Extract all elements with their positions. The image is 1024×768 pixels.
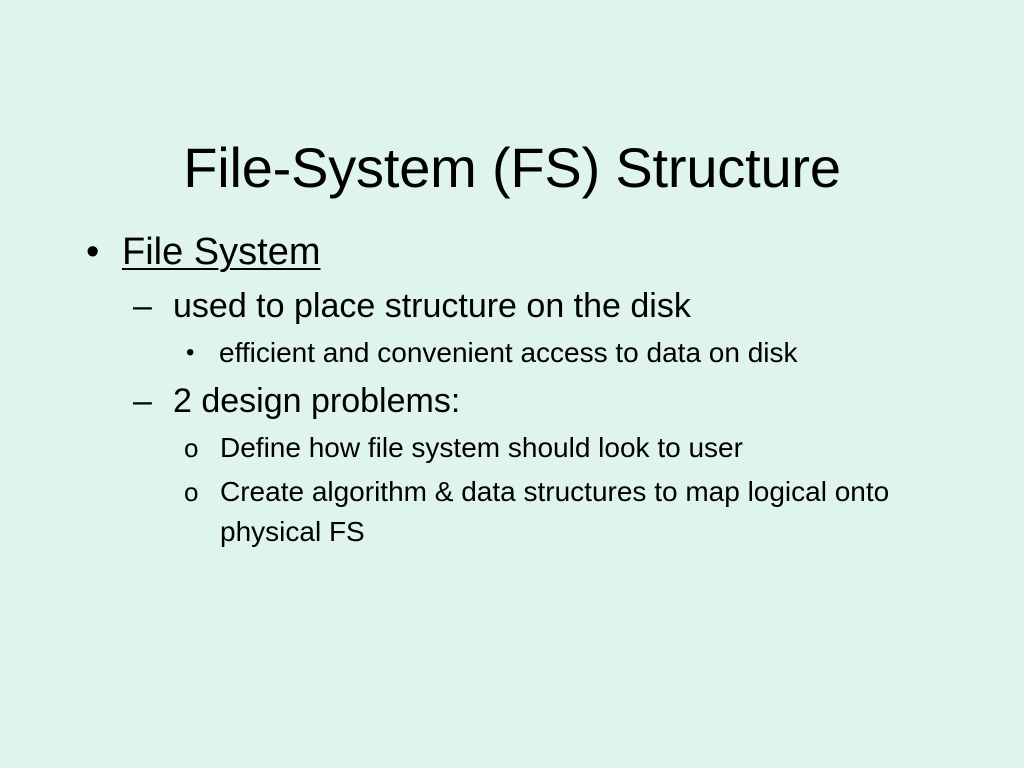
outline-text-efficient-access: efficient and convenient access to data … xyxy=(219,333,1024,373)
outline-text-create-algorithm: Create algorithm & data structures to ma… xyxy=(220,472,900,552)
outline-item-level2-design-problems: – 2 design problems: xyxy=(0,379,1024,424)
bullet-marker-level3-a: • xyxy=(186,333,194,373)
circle-marker-level4-a: o xyxy=(184,428,198,468)
slide-title: File-System (FS) Structure xyxy=(0,134,1024,202)
circle-marker-level4-b: o xyxy=(184,472,198,512)
outline-item-level3-efficient-access: • efficient and convenient access to dat… xyxy=(0,333,1024,373)
dash-marker-level2-a: – xyxy=(133,284,152,329)
bullet-marker-level1: • xyxy=(86,228,99,276)
outline-item-level1: • File System xyxy=(0,228,1024,276)
outline-text-define-how: Define how file system should look to us… xyxy=(220,428,900,468)
outline-text-used-to-place-structure: used to place structure on the disk xyxy=(173,284,1024,329)
slide-body: • File System – used to place structure … xyxy=(0,228,1024,556)
slide: File-System (FS) Structure • File System… xyxy=(0,0,1024,768)
outline-item-level2-used-to-place-structure: – used to place structure on the disk xyxy=(0,284,1024,329)
dash-marker-level2-b: – xyxy=(133,379,152,424)
outline-text-file-system: File System xyxy=(122,228,1024,276)
outline-item-level4-define-how: o Define how file system should look to … xyxy=(0,428,1024,468)
outline-item-level4-create-algorithm: o Create algorithm & data structures to … xyxy=(0,472,1024,552)
outline-text-design-problems: 2 design problems: xyxy=(173,379,1024,424)
